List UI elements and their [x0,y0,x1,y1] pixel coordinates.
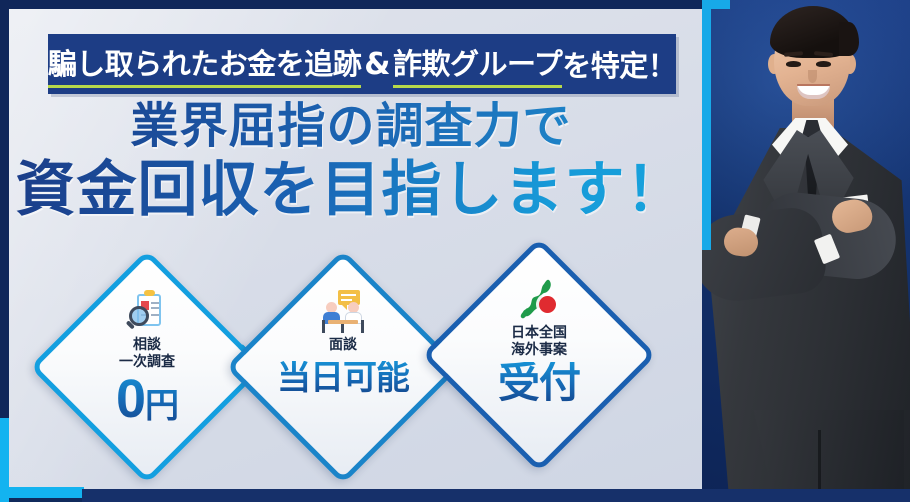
ribbon-text-part3: を特定！ [562,43,676,85]
headline-line-2: 資金回収を目指します！ [0,156,702,224]
ribbon-banner: 騙し取られたお金を追跡 & 詐欺グループ を特定！ [48,34,676,94]
photo-panel [700,0,910,502]
badge-main-number: 0 [116,369,145,429]
meeting-people-icon [319,290,367,334]
ribbon-text-part2: 詐欺グループ [393,41,562,88]
ampersand-icon: & [361,47,393,82]
hair [770,6,856,58]
headline-line-1: 業界屈指の調査力で [0,100,702,154]
badge-content: 日本全国 海外事案 受付 [456,272,622,438]
badge-sub-line-2: 海外事案 [511,341,567,358]
badge-sub-line-1: 日本全国 [511,324,567,341]
badge-main-value: 0円 [116,372,178,426]
ribbon-text-part1: 騙し取られたお金を追跡 [48,41,362,88]
headline: 業界屈指の調査力で 資金回収を目指します！ [0,100,702,224]
nose [808,70,817,83]
badge-nationwide[interactable]: 日本全国 海外事案 受付 [456,272,622,438]
arm-left [700,204,829,305]
eye-left [786,61,801,67]
clipboard-magnifier-icon [123,290,171,334]
badge-main-value: 当日可能 [277,361,409,395]
right-cyan-accent [702,0,711,250]
badge-main-value: 受付 [498,362,580,404]
eye-right [816,61,831,67]
badge-consultation[interactable]: 相談 一次調査 0円 [64,284,230,450]
businessman-portrait [700,0,910,502]
badge-meeting[interactable]: 面談 当日可能 [260,284,426,450]
badge-content: 相談 一次調査 0円 [64,284,230,450]
japan-map-icon [515,278,563,322]
ribbon-text: 騙し取られたお金を追跡 & 詐欺グループ を特定！ [48,41,676,88]
badge-sub-line-1: 相談 [133,336,161,353]
bottom-navy-accent [82,489,910,502]
badge-group: 相談 一次調査 0円 [64,256,684,478]
badge-sub-line-2: 一次調査 [119,353,175,370]
badge-content: 面談 当日可能 [260,284,426,450]
top-navy-accent [0,0,702,9]
badge-sub-line-1: 面談 [329,336,357,353]
yen-unit: 円 [145,387,178,425]
bottom-cyan-accent [0,487,84,498]
promo-banner: 騙し取られたお金を追跡 & 詐欺グループ を特定！ 業界屈指の調査力で 資金回収… [0,0,910,502]
